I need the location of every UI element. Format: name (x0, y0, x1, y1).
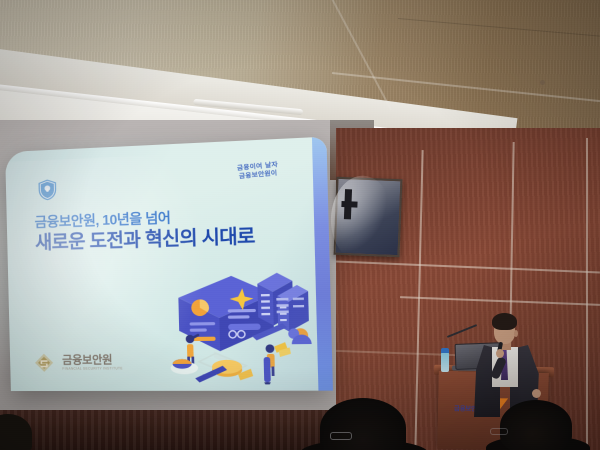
water-bottle (441, 352, 449, 372)
audience-head (320, 398, 406, 450)
wall-panel-joint (586, 138, 588, 450)
speaker-ear (514, 330, 518, 337)
display-glare (329, 175, 394, 263)
presentation-photo-scene: 금융이여 날자 금융보안원이 금융보안원, 10년을 넘어 새로운 도전과 혁신… (0, 0, 600, 450)
slide-footer-logo: 금융보안원 FINANCIAL SECURITY INSTITUTE (32, 350, 123, 375)
audience-head (500, 400, 572, 450)
handwritten-slogan: 금융이여 날자 금융보안원이 (217, 159, 299, 183)
display-mount-bracket (341, 201, 357, 208)
projection-screen: 금융이여 날자 금융보안원이 금융보안원, 10년을 넘어 새로운 도전과 혁신… (5, 137, 333, 391)
speaker-hand (496, 349, 504, 358)
shield-lock-icon (38, 178, 58, 202)
footer-logo-kr: 금융보안원 (62, 355, 123, 367)
illustration-figure-orange (288, 328, 312, 344)
footer-logo-en: FINANCIAL SECURITY INSTITUTE (62, 366, 123, 370)
slide-content: 금융이여 날자 금융보안원이 금융보안원, 10년을 넘어 새로운 도전과 혁신… (5, 137, 333, 391)
footer-logo-text: 금융보안원 FINANCIAL SECURITY INSTITUTE (62, 355, 123, 371)
wall-mounted-display (334, 177, 403, 257)
speaker-hand-resting (532, 389, 541, 398)
speaker-hair (492, 313, 517, 330)
water-bottle-cap (441, 348, 449, 353)
audience-glasses (330, 432, 352, 440)
audience-glasses (490, 428, 508, 435)
dark-wood-skirting (0, 410, 352, 450)
isometric-illustration (165, 259, 317, 384)
fsi-emblem-icon (32, 351, 57, 375)
ceiling-sprinkler (540, 80, 545, 85)
